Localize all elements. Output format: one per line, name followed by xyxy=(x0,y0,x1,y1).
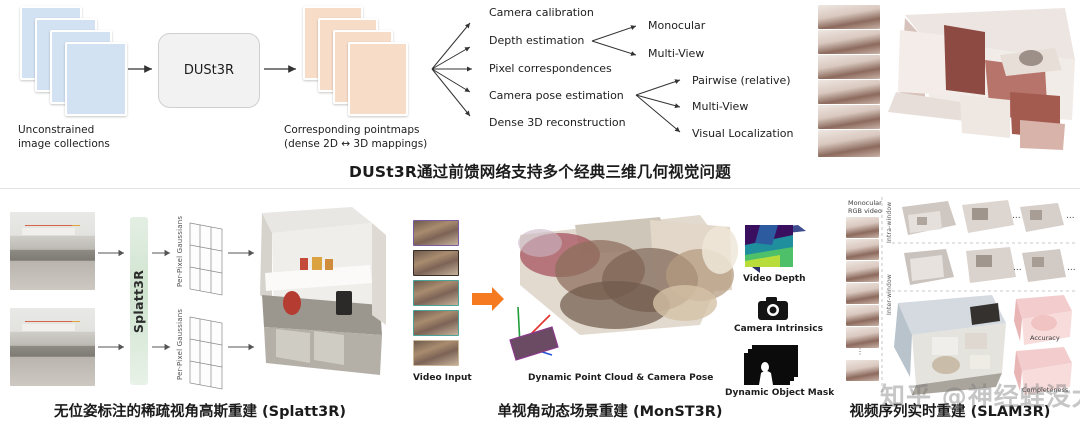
monst3r-output-label-dynamic-mask: Dynamic Object Mask xyxy=(725,387,834,400)
panel-monst3r: Video Input xyxy=(400,195,820,435)
splatt3r-arrows-and-planes xyxy=(0,195,400,435)
panel-slam3r: Monocular RGB video ... Intra-window Int… xyxy=(820,195,1080,435)
top-panel: Unconstrained image collections DUSt3R C… xyxy=(0,0,1080,175)
top-panel-caption: DUSt3R通过前馈网络支持多个经典三维几何视觉问题 xyxy=(0,160,1080,182)
panel-divider xyxy=(0,188,1080,189)
slam3r-metric-accuracy: Accuracy xyxy=(1030,334,1060,342)
monst3r-caption: 单视角动态场景重建 (MonST3R) xyxy=(400,400,820,421)
splatt3r-caption: 无位姿标注的稀疏视角高斯重建 (Splatt3R) xyxy=(0,400,400,421)
slam3r-global-reconstruction xyxy=(820,195,1080,435)
slam3r-caption: 视频序列实时重建 (SLAM3R) xyxy=(820,400,1080,421)
slam3r-metric-completeness: Completeness xyxy=(1022,386,1068,394)
top-right-mesh xyxy=(0,0,1080,175)
figure-root: Unconstrained image collections DUSt3R C… xyxy=(0,0,1080,435)
panel-splatt3r: Splatt3R Per-Pixel Gaussians Per-Pixel G… xyxy=(0,195,400,435)
